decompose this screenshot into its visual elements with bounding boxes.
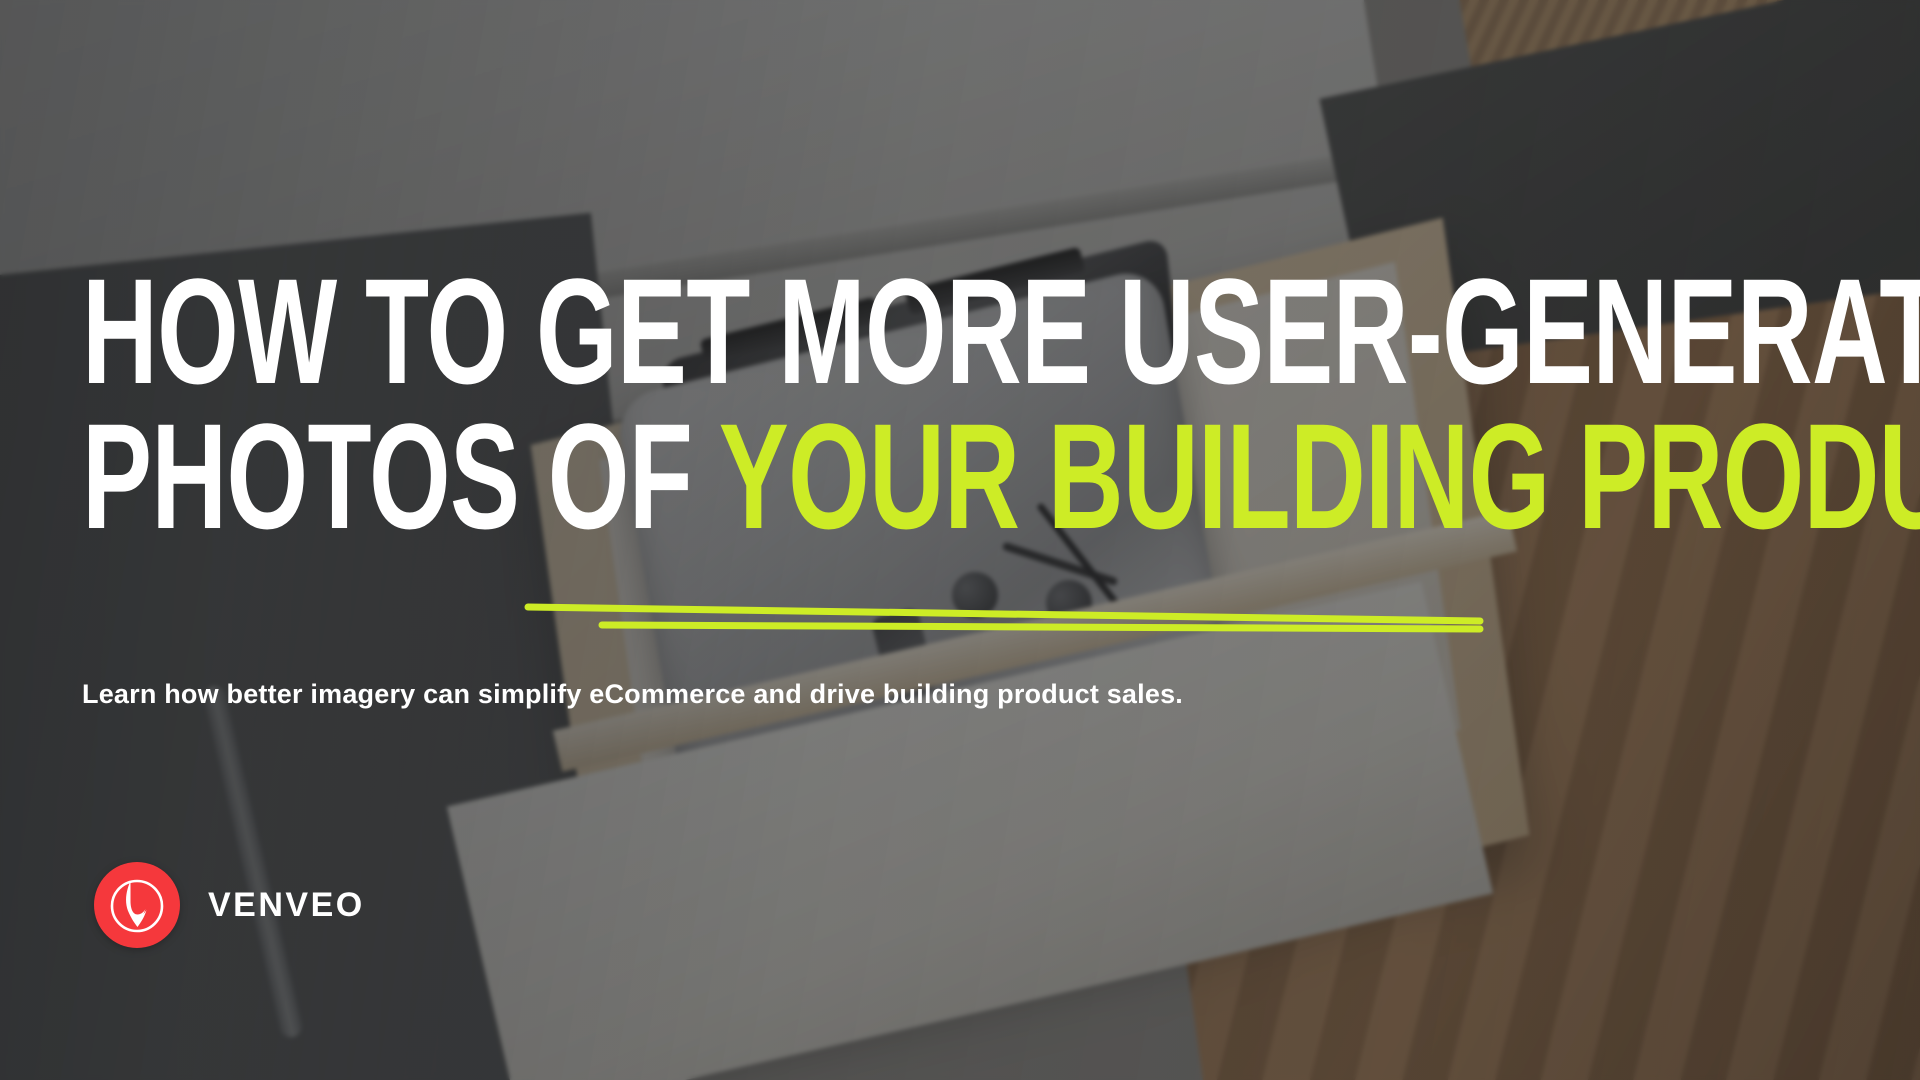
venveo-flame-icon (94, 862, 180, 948)
title-slide: HOW TO GET MORE USER-GENERATED PHOTOS OF… (0, 0, 1920, 1080)
headline-line-1: HOW TO GET MORE USER-GENERATED (82, 259, 1076, 405)
brand-wordmark: VENVEO (208, 886, 365, 925)
double-stroke-underline-icon (470, 555, 1480, 625)
page-title: HOW TO GET MORE USER-GENERATED PHOTOS OF… (82, 259, 1076, 550)
slide-content: HOW TO GET MORE USER-GENERATED PHOTOS OF… (0, 0, 1920, 1080)
headline-line-2-white: PHOTOS OF (82, 392, 719, 560)
brand-lockup: VENVEO (94, 862, 365, 948)
headline-line-2: PHOTOS OF YOUR BUILDING PRODUCTS (82, 404, 1076, 550)
subtitle: Learn how better imagery can simplify eC… (82, 679, 1183, 710)
headline-line-2-highlight: YOUR BUILDING PRODUCTS (719, 392, 1920, 560)
